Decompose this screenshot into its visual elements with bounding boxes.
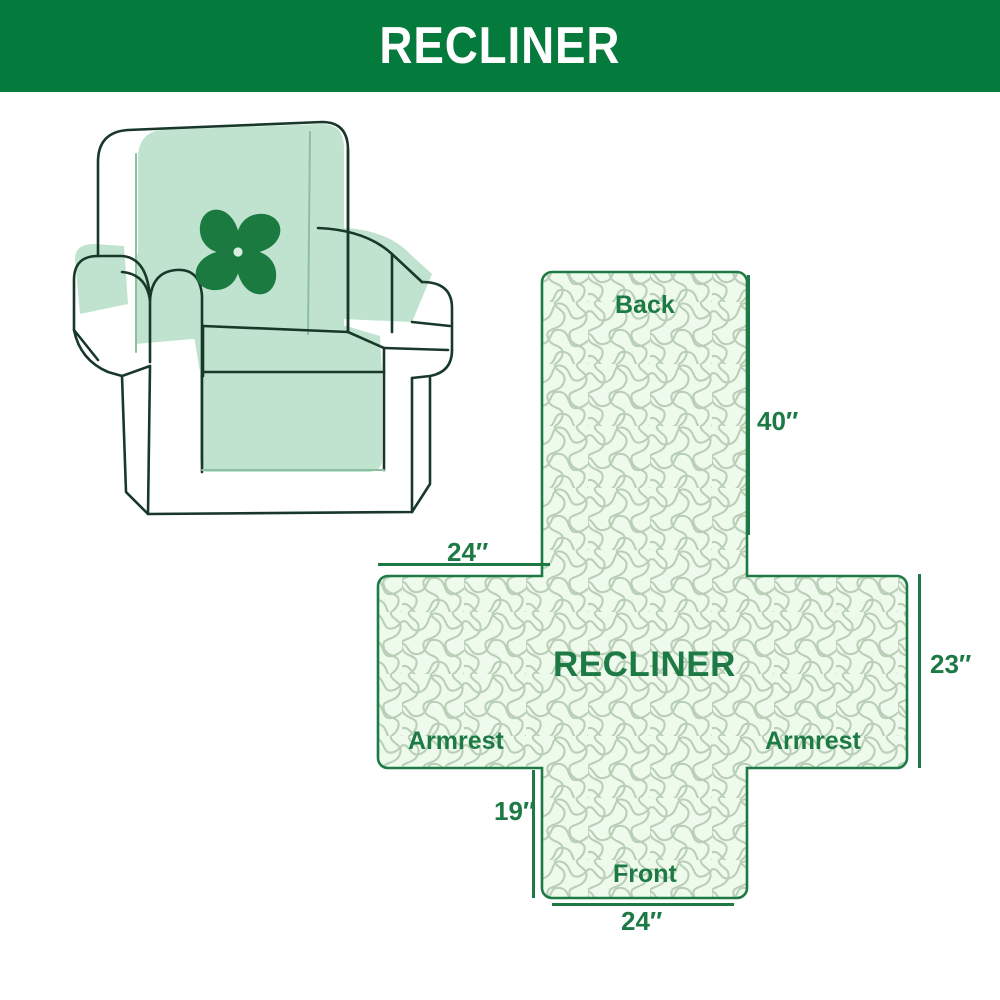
label-back: Back (615, 293, 675, 318)
header-bar: RECLINER (0, 0, 1000, 92)
dimension-rule-front-height (532, 770, 535, 898)
label-armrest-left: Armrest (408, 729, 504, 754)
dimension-rule-back-height (747, 275, 750, 535)
page-title: RECLINER (380, 20, 621, 72)
cover-flat-pattern (340, 240, 1000, 960)
dimension-front-width: 24″ (621, 908, 662, 934)
label-front: Front (613, 862, 677, 887)
dimension-back-height: 40″ (757, 408, 798, 434)
product-dimension-infographic: RECLINER (0, 0, 1000, 1000)
label-armrest-right: Armrest (765, 729, 861, 754)
label-center-recliner: RECLINER (553, 647, 736, 682)
dimension-back-width: 24″ (447, 539, 488, 565)
cross-texture (378, 272, 907, 898)
dimension-seat-depth: 23″ (930, 651, 971, 677)
dimension-front-height: 19″ (494, 798, 535, 824)
dimension-rule-seat-depth (918, 574, 921, 768)
